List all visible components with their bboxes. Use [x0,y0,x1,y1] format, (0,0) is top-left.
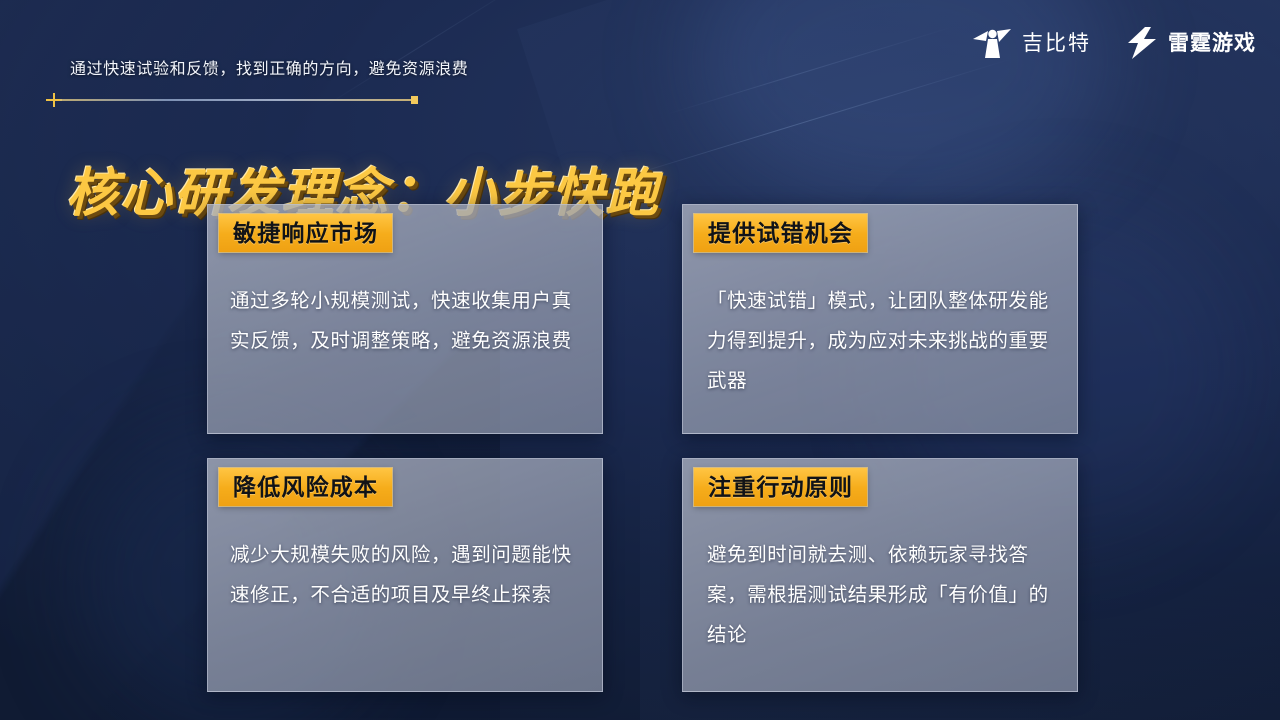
angel-logo-icon [973,27,1013,59]
content-card-grid: 敏捷响应市场 通过多轮小规模测试，快速收集用户真实反馈，及时调整策略，避免资源浪… [207,204,1087,694]
card-body-text: 减少大规模失败的风险，遇到问题能快速修正，不合适的项目及早终止探索 [230,535,586,615]
lightning-bolt-icon [1125,26,1159,60]
slide-subtitle: 通过快速试验和反馈，找到正确的方向，避免资源浪费 [70,55,468,79]
card-heading-label: 降低风险成本 [233,476,378,499]
card-heading-badge: 提供试错机会 [694,214,867,252]
card-body-text: 「快速试错」模式，让团队整体研发能力得到提升，成为应对未来挑战的重要武器 [707,281,1061,401]
card-heading-badge: 敏捷响应市场 [219,214,392,252]
content-card-focus-on-action-principles[interactable]: 注重行动原则 避免到时间就去测、依赖玩家寻找答案，需根据测试结果形成「有价值」的… [682,458,1078,692]
brand-label-gbits: 吉比特 [1022,33,1091,54]
card-body-text: 避免到时间就去测、依赖玩家寻找答案，需根据测试结果形成「有价值」的结论 [707,535,1061,655]
brand-logo-gbits: 吉比特 [973,27,1091,59]
content-card-agile-market-response[interactable]: 敏捷响应市场 通过多轮小规模测试，快速收集用户真实反馈，及时调整策略，避免资源浪… [207,204,603,434]
content-card-trial-and-error-opportunity[interactable]: 提供试错机会 「快速试错」模式，让团队整体研发能力得到提升，成为应对未来挑战的重… [682,204,1078,434]
brand-label-thunder: 雷霆游戏 [1168,33,1256,54]
card-heading-label: 注重行动原则 [708,476,853,499]
title-divider [46,93,434,107]
brand-logo-group: 吉比特 雷霆游戏 [973,26,1256,60]
content-card-reduce-risk-cost[interactable]: 降低风险成本 减少大规模失败的风险，遇到问题能快速修正，不合适的项目及早终止探索 [207,458,603,692]
card-body-text: 通过多轮小规模测试，快速收集用户真实反馈，及时调整策略，避免资源浪费 [230,281,586,361]
presentation-slide: 吉比特 雷霆游戏 通过快速试验和反馈，找到正确的方向，避免资源浪费 核心研发理念… [0,0,1280,720]
card-heading-label: 提供试错机会 [708,222,853,245]
light-streak-2 [666,26,953,115]
divider-end-dot-icon [411,96,418,104]
divider-line [60,99,415,101]
card-heading-badge: 注重行动原则 [694,468,867,506]
card-heading-label: 敏捷响应市场 [233,222,378,245]
card-heading-badge: 降低风险成本 [219,468,392,506]
light-streak-1 [609,59,1011,183]
brand-logo-thunder: 雷霆游戏 [1125,26,1256,60]
